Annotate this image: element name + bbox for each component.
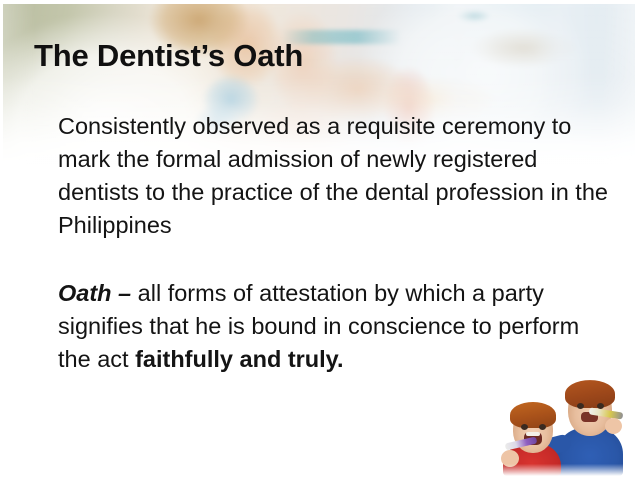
oath-term-label: Oath –: [58, 280, 138, 306]
paragraph-observance-text: Consistently observed as a requisite cer…: [58, 110, 613, 242]
kids-brushing-teeth-image: [489, 374, 638, 476]
kids-photo-edge-fade: [489, 374, 638, 476]
bullet-paragraph-observance: Consistently observed as a requisite cer…: [33, 110, 613, 242]
slide-body: Consistently observed as a requisite cer…: [33, 110, 613, 376]
paragraph-oath-definition: Oath – all forms of attestation by which…: [33, 277, 613, 376]
oath-emphasis-text: faithfully and truly.: [135, 346, 343, 372]
presentation-slide: The Dentist’s Oath Consistently observed…: [0, 0, 638, 479]
slide-title: The Dentist’s Oath: [34, 36, 303, 76]
